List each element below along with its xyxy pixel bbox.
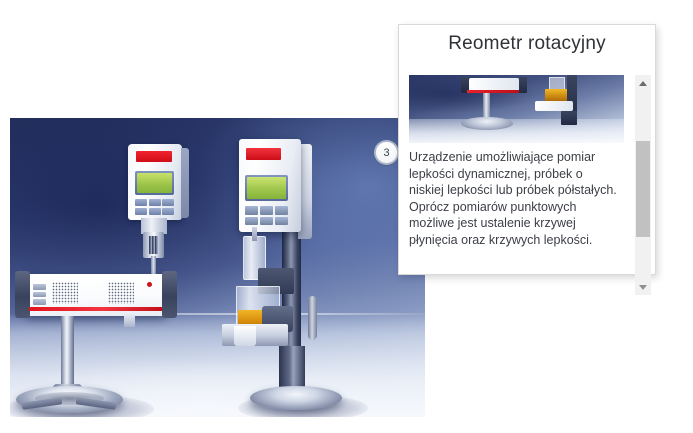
module-vent-right [108,282,134,304]
temperature-control-module [26,274,166,316]
instrument-b-display-frame [245,175,288,201]
photo-canvas [10,118,425,417]
scrollbar-thumb[interactable] [636,141,650,237]
panel-title: Reometr rotacyjny [399,33,655,55]
instrument-a-display-frame [135,171,174,195]
stand-a-adjuster-knob [124,314,135,327]
stand-b-base [250,386,342,410]
instrument-a-keypad [135,199,174,215]
thumbnail-red-stripe [467,90,525,93]
module-vent-left [52,282,78,304]
panel-description: Urządzenie umożliwiające pomiar lepkości… [409,149,617,248]
instrument-a-spindle [151,256,156,274]
instrument-a-brand-logo [136,151,172,162]
sample-cup [234,326,256,346]
hotspot-marker-label: 3 [383,147,389,159]
panel-content: Urządzenie umożliwiające pomiar lepkości… [409,75,630,267]
instrument-b-control-head [239,139,301,232]
thumbnail-tray-right [535,101,573,111]
rheometer-thumbnail[interactable] [409,75,624,143]
stand-a-base [16,386,123,413]
info-panel: Reometr rotacyjny Urządzenie umożliwiają… [398,24,656,275]
hotspot-marker-3[interactable]: 3 [375,141,398,164]
thumbnail-clamp-right [561,111,577,125]
scroll-up-icon[interactable] [635,75,651,91]
product-photo[interactable] [10,118,425,417]
instrument-a-lcd-screen [137,173,172,193]
instrument-b-keypad [245,206,288,225]
instrument-b-lcd-screen [247,177,286,199]
module-buttons [33,284,46,305]
instrument-a-spindle-chuck [143,232,164,258]
thumbnail-column-left [483,93,490,119]
instrument-b-handle [308,296,317,340]
instrument-b-brand-logo [246,148,281,160]
thumbnail-module-cap-right [519,77,527,93]
instrument-a-control-head [128,144,182,220]
thumbnail-base-left [461,117,513,130]
thumbnail-floor [409,119,624,143]
panel-scrollbar[interactable] [635,75,651,295]
scroll-down-icon[interactable] [635,279,651,295]
thumbnail-sample [545,89,569,101]
module-red-stripe [29,307,163,311]
module-indicator-led [147,282,152,287]
stand-a-column [61,316,74,394]
